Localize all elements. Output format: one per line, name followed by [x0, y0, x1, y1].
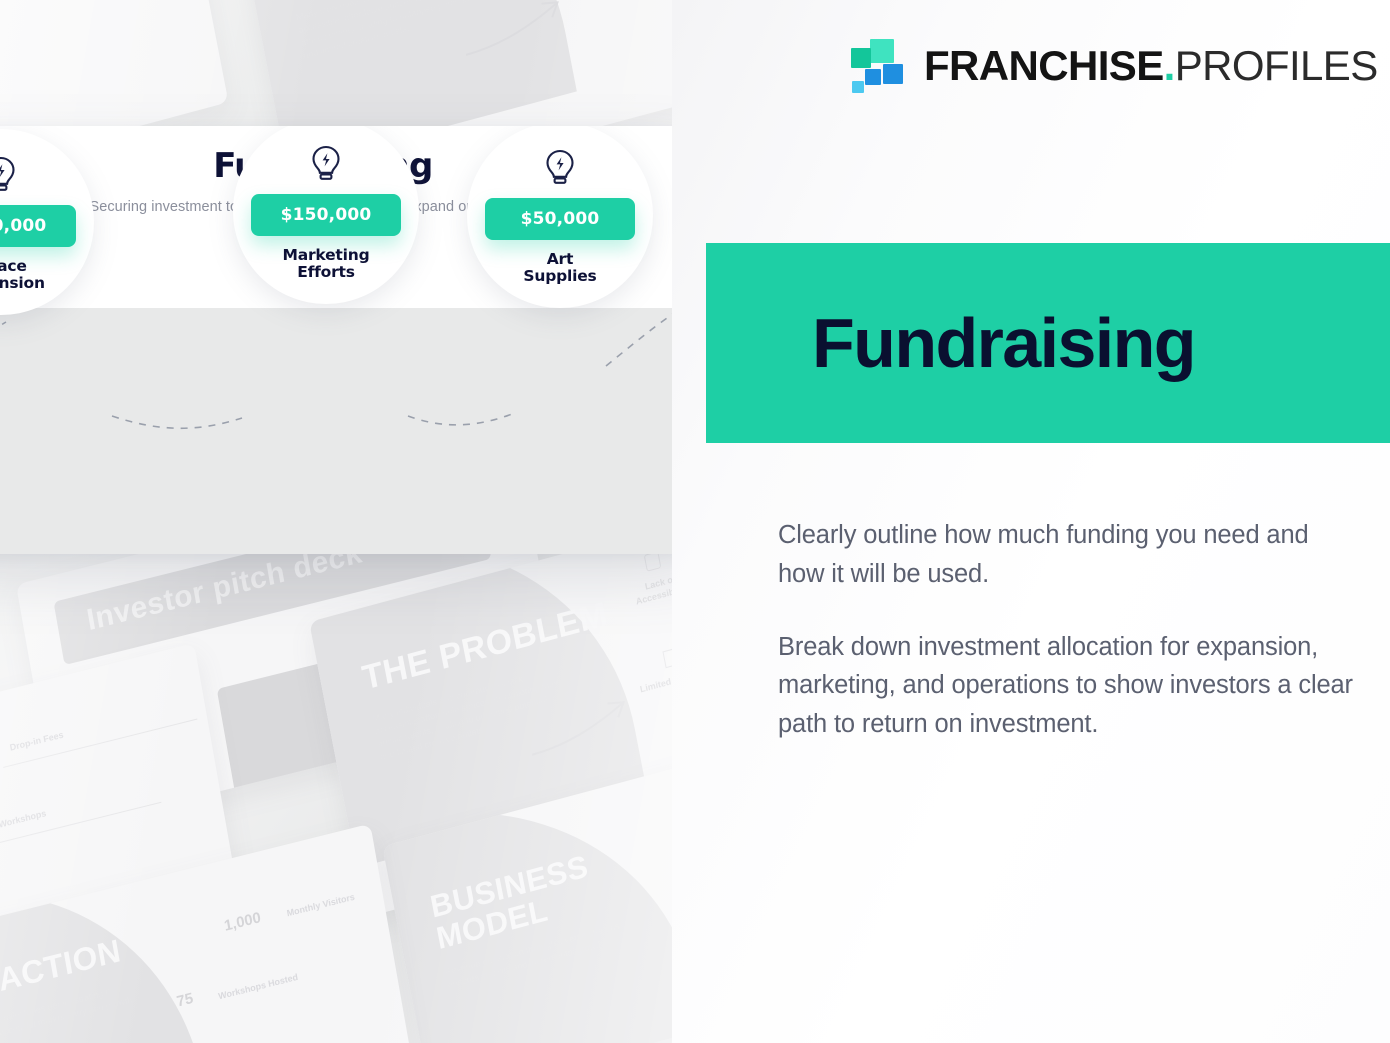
- funding-node-label: Marketing Efforts: [283, 247, 370, 282]
- funding-node-label: Art Supplies: [523, 251, 596, 286]
- mockup-stat-label: Monthly Visitors: [286, 892, 356, 919]
- description-paragraph-2: Break down investment allocation for exp…: [778, 628, 1358, 744]
- lock-icon: [644, 551, 662, 572]
- lightbulb-icon: [0, 155, 18, 193]
- funding-node-label: Space Expansion: [0, 258, 45, 293]
- lightbulb-icon: [543, 148, 577, 186]
- brand-dot: .: [1164, 42, 1175, 89]
- mockup-item-resources: Limited Resources: [637, 663, 672, 697]
- mockup-stat-value: 1,000: [223, 909, 262, 935]
- right-content-panel: FRANCHISE.PROFILES Fundraising Clearly o…: [672, 0, 1390, 1043]
- section-title-band: Fundraising: [706, 243, 1390, 443]
- divider: [0, 802, 161, 851]
- funding-amount-pill: $150,000: [0, 205, 76, 247]
- mockup-stat-value: 75: [175, 990, 194, 1011]
- mockup-label-dropin: Drop-in Fees: [9, 729, 64, 752]
- slide-canvas: MARKET ...prices in urban and ...are sub…: [0, 0, 1390, 1043]
- funding-node-art-supplies[interactable]: $50,000 Art Supplies: [467, 126, 653, 308]
- description-paragraph-1: Clearly outline how much funding you nee…: [778, 516, 1358, 594]
- brand-logo[interactable]: FRANCHISE.PROFILES: [850, 38, 1378, 94]
- mockup-item-accessibility: Lack of Accessibility: [618, 567, 672, 612]
- brand-name-bold: FRANCHISE: [924, 42, 1164, 89]
- brand-name-light: PROFILES: [1175, 42, 1378, 89]
- brand-wordmark: FRANCHISE.PROFILES: [924, 45, 1378, 87]
- funding-node-marketing-efforts[interactable]: $150,000 Marketing Efforts: [233, 126, 419, 304]
- funding-amount-pill: $150,000: [251, 194, 401, 236]
- description-copy: Clearly outline how much funding you nee…: [778, 516, 1358, 744]
- mockup-stat-label: Workshops Hosted: [218, 972, 299, 1002]
- page-title: Fundraising: [812, 308, 1195, 378]
- fundraising-preview-card: Fundraising Securing investment to scale…: [0, 126, 706, 554]
- hourglass-icon: [662, 648, 672, 669]
- funding-amount-pill: $50,000: [485, 198, 635, 240]
- preview-card-body: [0, 308, 706, 554]
- lightbulb-icon: [309, 144, 343, 182]
- logo-squares-icon: [850, 38, 906, 94]
